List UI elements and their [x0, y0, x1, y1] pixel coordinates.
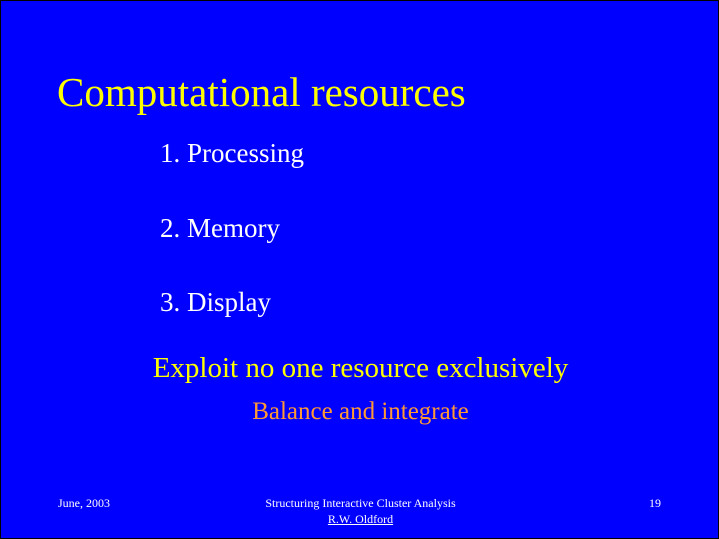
- footer-presentation-title: Structuring Interactive Cluster Analysis: [1, 496, 719, 510]
- slide-title: Computational resources: [57, 69, 466, 115]
- emphasis-line-balance: Balance and integrate: [1, 397, 719, 427]
- list-item: 1. Processing: [160, 137, 304, 169]
- footer-page-number: 19: [641, 496, 669, 510]
- presentation-slide: Computational resources 1. Processing 2.…: [0, 0, 719, 539]
- list-item: 3. Display: [160, 286, 271, 318]
- footer-author-link[interactable]: R.W. Oldford: [328, 512, 393, 526]
- list-item: 2. Memory: [160, 212, 280, 244]
- emphasis-line-exploit: Exploit no one resource exclusively: [1, 351, 719, 385]
- footer-author: R.W. Oldford: [1, 512, 719, 526]
